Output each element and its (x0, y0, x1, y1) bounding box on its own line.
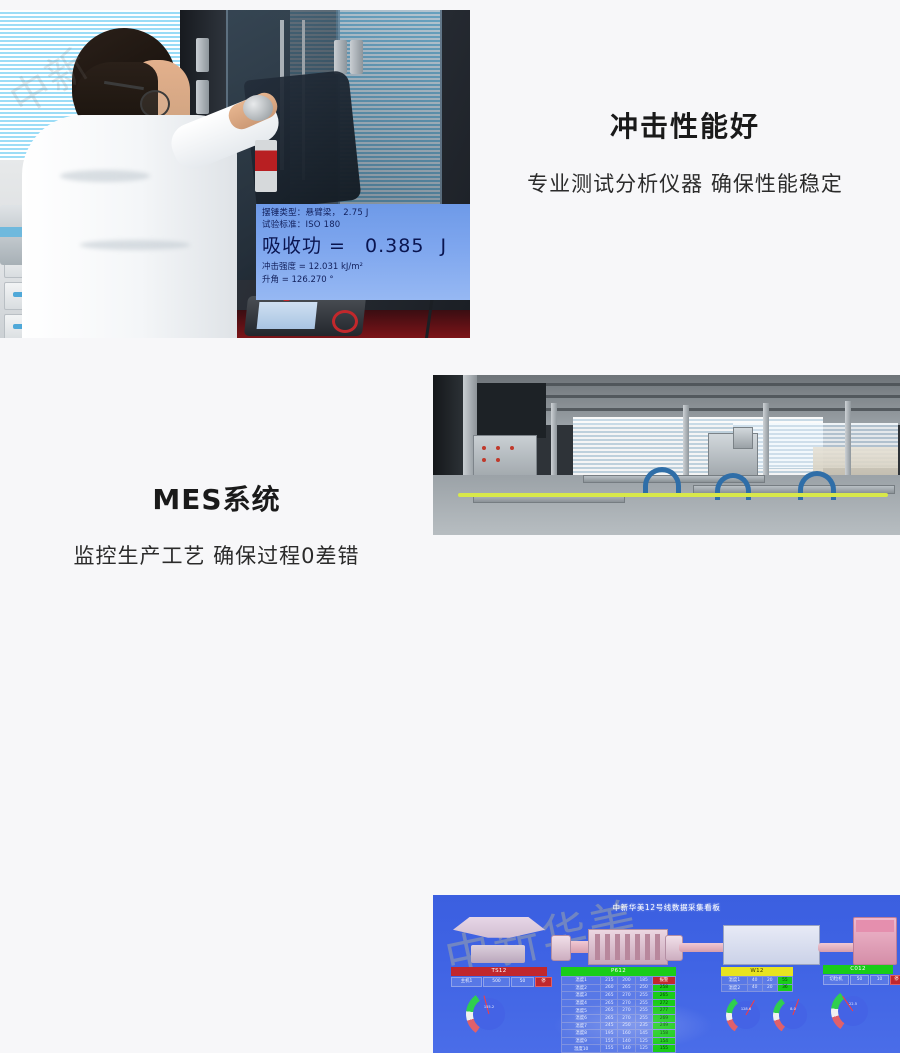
factory-floor-photo (433, 375, 900, 535)
machine-label-strip (255, 140, 277, 192)
panel-header-w12: W12 (721, 967, 793, 976)
control-panel-lcd (257, 302, 318, 329)
table-row: 温度1215200185报警 (562, 977, 676, 985)
section-1-text-block: 冲击性能好 专业测试分析仪器 确保性能稳定 (470, 0, 900, 360)
display-pendulum-type: 摆锤类型：悬臂梁， 2.75 J (262, 207, 464, 219)
door-hinge (334, 40, 347, 74)
gauge-value: 8.0 (773, 1007, 813, 1011)
flange-graphic (551, 935, 571, 961)
section-2-subtitle: 监控生产工艺 确保过程0差错 (0, 540, 433, 570)
c012-button[interactable]: 10 (870, 975, 889, 985)
c012-stop-button[interactable]: 停 (890, 975, 900, 985)
emergency-stop-button[interactable] (332, 310, 358, 333)
eyeglasses-icon (140, 90, 170, 118)
ts12-stop-button[interactable]: 停 (535, 977, 552, 987)
process-equipment (733, 427, 753, 449)
ts12-button-row[interactable]: 主机1 500 50 停 (451, 977, 552, 987)
absorbed-energy-unit: J (440, 235, 447, 257)
gauge-pelletizer-current: 22.5 (831, 989, 875, 1033)
table-row: 温度3265270255265 (562, 992, 676, 1000)
extruder-graphic (588, 929, 668, 965)
door-hinge (196, 80, 209, 114)
display-absorbed-energy: 吸收功 = 0.385 J (262, 233, 464, 260)
c012-button-row[interactable]: 切粒机 50 10 停 (823, 975, 900, 985)
section-impact-performance: 摆锤类型：悬臂梁， 2.75 J 试验标准：ISO 180 吸收功 = 0.38… (0, 0, 900, 360)
gauge-value: 155.2 (466, 1005, 512, 1009)
safety-tape (458, 493, 888, 497)
coat-fold (60, 170, 150, 182)
panel-header-p612: P612 (561, 967, 676, 976)
product-detail-page: 摆锤类型：悬臂梁， 2.75 J 试验标准：ISO 180 吸收功 = 0.38… (0, 0, 900, 738)
panel-header-ts12: TS12 (451, 967, 547, 976)
instrument-display-screen: 摆锤类型：悬臂梁， 2.75 J 试验标准：ISO 180 吸收功 = 0.38… (256, 204, 470, 300)
display-impact-strength: 冲击强度 = 12.031 kJ/m² (262, 261, 464, 274)
table-row: 温度2402036 (722, 984, 793, 992)
c012-button[interactable]: 50 (850, 975, 869, 985)
door-hinge (350, 40, 363, 74)
pelletizer-graphic (853, 917, 897, 965)
absorbed-energy-label: 吸收功 = (262, 235, 346, 257)
section-mes-system: MES系统 监控生产工艺 确保过程0差错 (0, 360, 900, 738)
display-rise-angle: 升角 = 126.270 ° (262, 274, 464, 287)
mezzanine-structure (471, 383, 546, 438)
vacuum-tank-graphic (723, 925, 820, 965)
ts12-button[interactable]: 500 (483, 977, 510, 987)
door-hinge (196, 38, 209, 72)
ts12-button[interactable]: 主机1 (451, 977, 482, 987)
table-row: 温度2260265250258 (562, 984, 676, 992)
hopper-base-graphic (471, 945, 525, 963)
screen-glare (553, 1000, 713, 1050)
display-test-standard: 试验标准：ISO 180 (262, 219, 464, 231)
ts12-button[interactable]: 50 (511, 977, 534, 987)
w12-data-table: 温度1402055 温度2402036 (721, 976, 793, 992)
absorbed-energy-value: 0.385 (365, 235, 424, 257)
gauge-melt-pressure: 8.0 (773, 995, 813, 1035)
c012-button[interactable]: 切粒机 (823, 975, 849, 985)
impact-tester-photo: 摆锤类型：悬臂梁， 2.75 J 试验标准：ISO 180 吸收功 = 0.38… (0, 10, 470, 338)
gauge-value: 128.6 (726, 1007, 766, 1011)
gauge-value: 22.5 (831, 1002, 875, 1006)
section-2-title: MES系统 (0, 478, 433, 518)
gauge-main-current: 155.2 (466, 991, 512, 1037)
section-1-subtitle: 专业测试分析仪器 确保性能稳定 (470, 168, 900, 198)
mes-dashboard-screen: 中新华美 中新华美12号线数据采集看板 TS12 主机1 500 (433, 895, 900, 1053)
panel-header-c012: C012 (823, 965, 893, 974)
dashboard-title: 中新华美12号线数据采集看板 (433, 902, 900, 913)
machine-knob (243, 95, 273, 121)
transfer-pipe-graphic (679, 943, 727, 952)
section-1-title: 冲击性能好 (470, 105, 900, 145)
table-row: 温度1402055 (722, 977, 793, 985)
section-2-text-block: MES系统 监控生产工艺 确保过程0差错 (0, 360, 433, 738)
coat-fold (80, 240, 190, 250)
gauge-feeder-current: 128.6 (726, 995, 766, 1035)
